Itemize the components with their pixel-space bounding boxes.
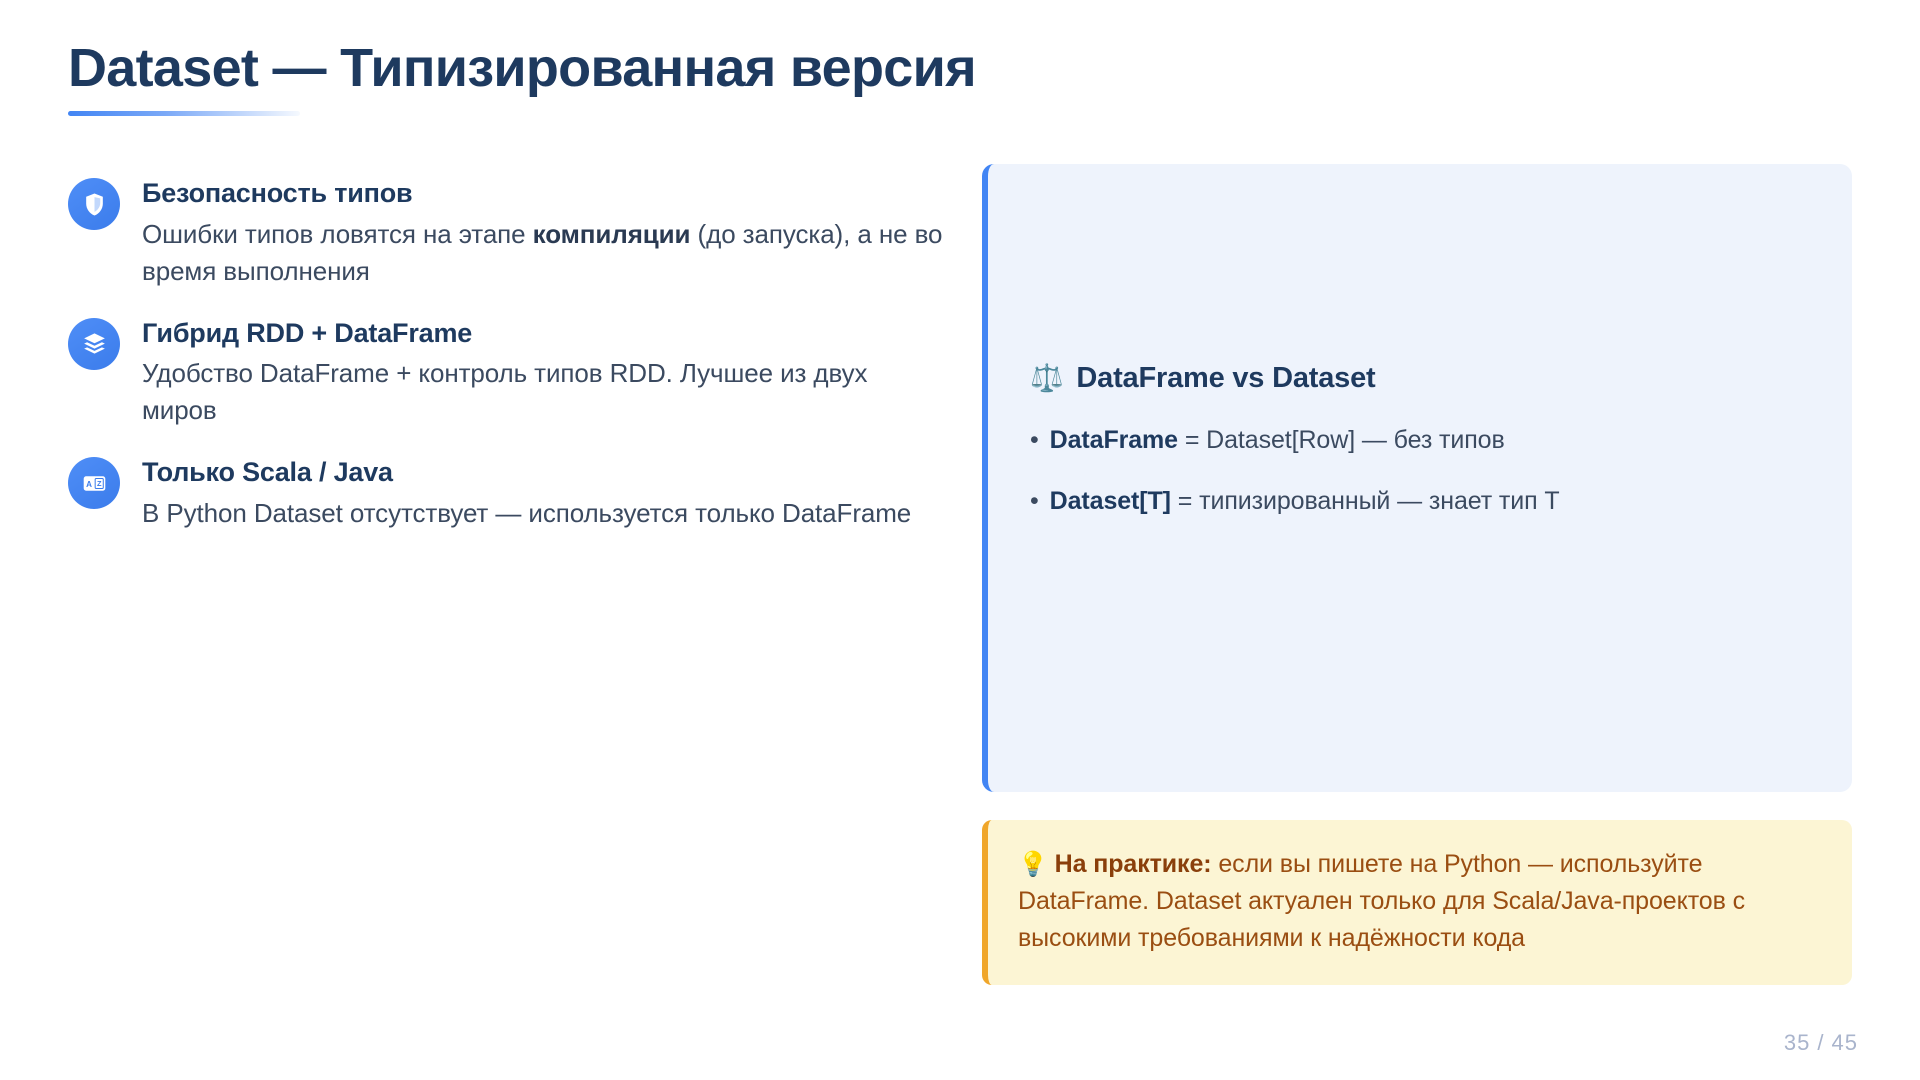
page-title: Dataset — Типизированная версия <box>68 38 1852 98</box>
comparison-bullet-dataframe: • DataFrame = Dataset[Row] — без типов <box>1030 423 1810 458</box>
feature-item-type-safety: Безопасность типов Ошибки типов ловятся … <box>68 176 948 290</box>
practice-callout: 💡 На практике: если вы пишете на Python … <box>982 820 1852 985</box>
feature-text: Безопасность типов Ошибки типов ловятся … <box>142 176 948 290</box>
feature-title: Безопасность типов <box>142 177 948 211</box>
feature-text: Только Scala / Java В Python Dataset отс… <box>142 455 948 532</box>
feature-item-hybrid: Гибрид RDD + DataFrame Удобство DataFram… <box>68 316 948 430</box>
body-area: Безопасность типов Ошибки типов ловятся … <box>0 168 1920 1048</box>
translate-icon: A Z <box>68 457 120 509</box>
slide-root: Dataset — Типизированная версия Безопасн… <box>0 0 1920 1080</box>
total-pages: 45 <box>1832 1030 1858 1055</box>
bullet-term: Dataset[T] <box>1050 487 1171 515</box>
svg-text:A: A <box>86 480 92 489</box>
bullet-rest: = типизированный — знает тип T <box>1171 487 1560 515</box>
bullet-content: Dataset[T] = типизированный — знает тип … <box>1050 484 1560 519</box>
feature-desc-emphasis: компиляции <box>533 219 691 249</box>
balance-scale-icon: ⚖️ <box>1030 365 1063 392</box>
feature-list: Безопасность типов Ошибки типов ловятся … <box>68 176 948 532</box>
practice-callout-text: 💡 На практике: если вы пишете на Python … <box>1018 846 1818 957</box>
feature-desc-part-1: В Python Dataset отсутствует — используе… <box>142 498 911 528</box>
page-separator: / <box>1817 1030 1824 1055</box>
bullet-marker: • <box>1030 423 1039 458</box>
bullet-marker: • <box>1030 484 1039 519</box>
current-page: 35 <box>1784 1030 1810 1055</box>
comparison-card-heading: ⚖️ DataFrame vs Dataset <box>1030 362 1810 395</box>
practice-label: На практике: <box>1055 850 1212 878</box>
comparison-bullet-dataset: • Dataset[T] = типизированный — знает ти… <box>1030 484 1810 519</box>
shield-icon <box>68 178 120 230</box>
svg-text:Z: Z <box>96 479 101 488</box>
comparison-heading-label: DataFrame vs Dataset <box>1076 362 1375 395</box>
layers-icon <box>68 318 120 370</box>
title-block: Dataset — Типизированная версия <box>68 38 1852 116</box>
feature-desc-part-1: Ошибки типов ловятся на этапе <box>142 219 533 249</box>
bullet-content: DataFrame = Dataset[Row] — без типов <box>1050 423 1505 458</box>
lightbulb-icon: 💡 <box>1018 851 1048 878</box>
feature-text: Гибрид RDD + DataFrame Удобство DataFram… <box>142 316 948 430</box>
bullet-term: DataFrame <box>1050 426 1178 454</box>
feature-title: Только Scala / Java <box>142 456 948 490</box>
comparison-card: ⚖️ DataFrame vs Dataset • DataFrame = Da… <box>982 164 1852 792</box>
right-column: ⚖️ DataFrame vs Dataset • DataFrame = Da… <box>982 164 1852 985</box>
feature-description: Удобство DataFrame + контроль типов RDD.… <box>142 355 948 429</box>
feature-desc-part-1: Удобство DataFrame + контроль типов RDD.… <box>142 358 867 425</box>
page-number: 35/45 <box>1784 1030 1858 1056</box>
feature-item-scala-java-only: A Z Только Scala / Java В Python Dataset… <box>68 455 948 532</box>
bullet-rest: = Dataset[Row] — без типов <box>1178 426 1505 454</box>
feature-title: Гибрид RDD + DataFrame <box>142 317 948 351</box>
title-underline-rule <box>68 111 300 116</box>
feature-description: Ошибки типов ловятся на этапе компиляции… <box>142 216 948 290</box>
feature-description: В Python Dataset отсутствует — используе… <box>142 495 948 532</box>
comparison-card-content: ⚖️ DataFrame vs Dataset • DataFrame = Da… <box>1030 362 1810 519</box>
